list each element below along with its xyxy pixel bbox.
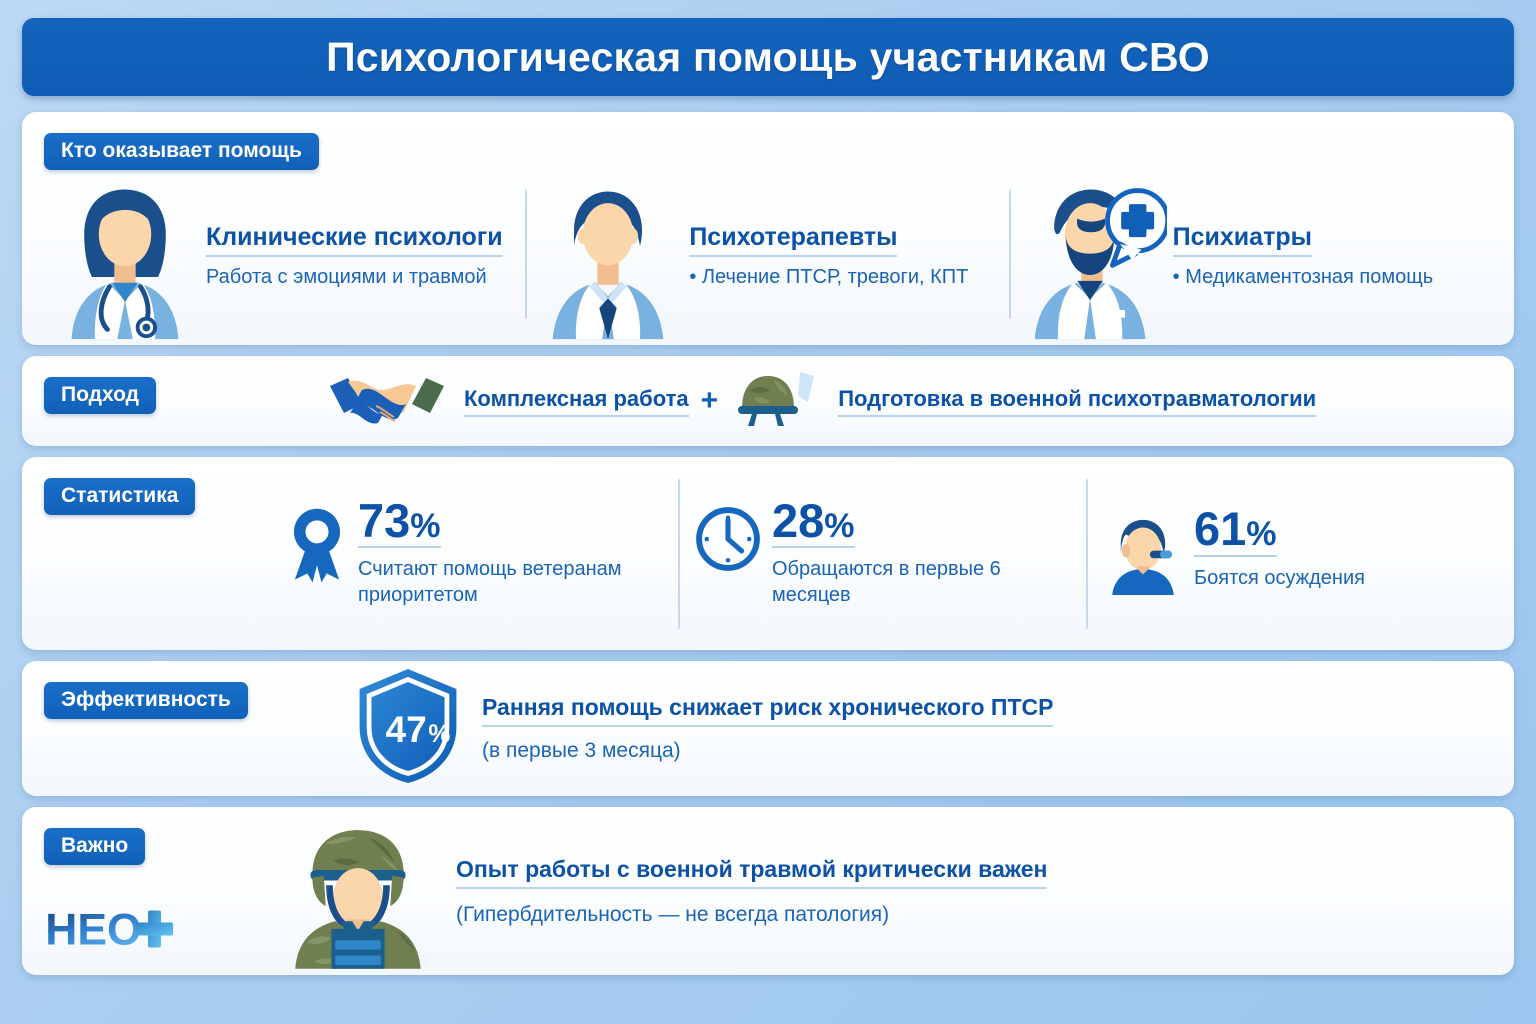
provider-psychiatrists: Психиатры • Медикаментозная помощь	[1011, 174, 1492, 333]
section-statistics: Статистика 73% Считают помощь ветеранам …	[22, 457, 1514, 650]
stat-first-six-months: 28% Обращаются в первые 6 месяцев	[680, 499, 1086, 609]
important-text: Опыт работы с военной травмой критически…	[456, 856, 1047, 927]
provider-title: Психотерапевты	[689, 223, 897, 257]
provider-text: Психотерапевты • Лечение ПТСР, тревоги, …	[689, 217, 1002, 291]
approach-connector: +	[701, 384, 719, 418]
stat-caption: Боятся осуждения	[1194, 565, 1365, 591]
shield-unit: %	[428, 721, 450, 748]
award-ribbon-icon	[286, 499, 348, 592]
important-row: Опыт работы с военной травмой критически…	[292, 807, 1494, 975]
female-psychologist-icon	[50, 174, 200, 333]
badge-effectiveness: Эффективность	[44, 682, 248, 719]
providers-list: Клинические психологи Работа с эмоциями …	[44, 174, 1492, 333]
important-note: (Гипербдительность — не всегда патология…	[456, 903, 1047, 927]
stat-fear-of-judgement: 61% Боятся осуждения	[1088, 507, 1494, 600]
approach-right-label: Подготовка в военной психотравматологии	[838, 386, 1316, 417]
provider-detail: • Медикаментозная помощь	[1173, 265, 1486, 291]
badge-important: Важно	[44, 828, 145, 865]
section-approach: Подход Комплексная работа +	[22, 356, 1514, 446]
logo-text: НЕО	[45, 906, 141, 954]
shield-value: 47	[386, 708, 427, 750]
statistics-list: 73% Считают помощь ветеранам приоритетом	[272, 467, 1494, 640]
provider-title: Клинические психологи	[206, 223, 503, 257]
bearded-psychiatrist-icon	[1017, 174, 1167, 333]
provider-title: Психиатры	[1173, 223, 1312, 257]
stat-value: 61%	[1194, 507, 1277, 557]
effectiveness-row: 47 % Ранняя помощь снижает риск хроничес…	[352, 661, 1494, 796]
section-providers: Кто оказывает помощь	[22, 112, 1514, 345]
shield-icon: 47 %	[352, 666, 464, 791]
approach-row: Комплексная работа + Подготовка в военно…	[322, 356, 1494, 446]
section-effectiveness: Эффективность 47 % Ранняя п	[22, 661, 1514, 796]
effectiveness-headline: Ранняя помощь снижает риск хронического …	[482, 694, 1053, 727]
badge-approach: Подход	[44, 377, 156, 414]
stat-value: 28%	[772, 499, 855, 549]
stat-text: 61% Боятся осуждения	[1194, 507, 1365, 591]
infographic-page: Психологическая помощь участникам СВО Кт…	[0, 0, 1536, 1024]
soldier-icon	[282, 809, 434, 974]
provider-psychotherapists: Психотерапевты • Лечение ПТСР, тревоги, …	[527, 174, 1008, 333]
page-header: Психологическая помощь участникам СВО	[22, 18, 1514, 96]
stat-priority: 73% Считают помощь ветеранам приоритетом	[272, 499, 678, 609]
section-important: Важно	[22, 807, 1514, 975]
military-helmet-icon	[730, 368, 826, 435]
effectiveness-note: (в первые 3 месяца)	[482, 739, 1053, 763]
stat-caption: Считают помощь ветеранам приоритетом	[358, 556, 664, 608]
approach-left-label: Комплексная работа	[464, 386, 689, 417]
clock-icon	[694, 499, 762, 578]
male-psychotherapist-icon	[533, 174, 683, 333]
stat-caption: Обращаются в первые 6 месяцев	[772, 556, 1072, 608]
handshake-icon	[322, 368, 452, 435]
provider-detail: Работа с эмоциями и травмой	[206, 265, 519, 290]
veteran-headset-icon	[1102, 507, 1184, 600]
brand-logo: НЕО	[44, 904, 204, 959]
page-title: Психологическая помощь участникам СВО	[326, 34, 1210, 81]
badge-statistics: Статистика	[44, 478, 195, 515]
important-headline: Опыт работы с военной травмой критически…	[456, 856, 1047, 889]
stat-value: 73%	[358, 499, 441, 549]
stat-text: 73% Считают помощь ветеранам приоритетом	[358, 499, 664, 609]
provider-text: Клинические психологи Работа с эмоциями …	[206, 217, 519, 290]
stat-text: 28% Обращаются в первые 6 месяцев	[772, 499, 1072, 609]
provider-text: Психиатры • Медикаментозная помощь	[1173, 217, 1486, 291]
provider-clinical-psychologists: Клинические психологи Работа с эмоциями …	[44, 174, 525, 333]
effectiveness-text: Ранняя помощь снижает риск хронического …	[482, 694, 1053, 763]
provider-detail: • Лечение ПТСР, тревоги, КПТ	[689, 265, 1002, 291]
badge-providers: Кто оказывает помощь	[44, 133, 319, 170]
